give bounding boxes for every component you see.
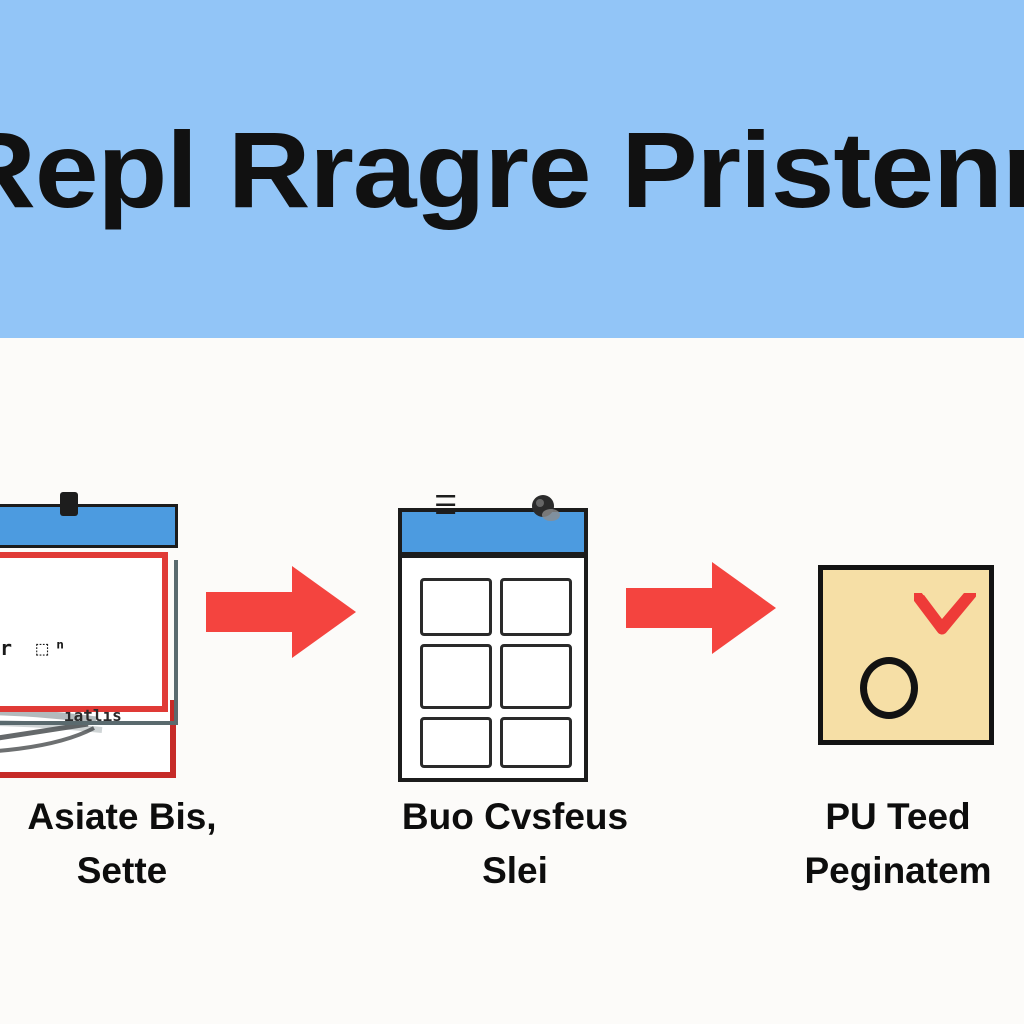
flow-diagram: ◓r ⬚ⁿ ıatlıs ✦ <box>0 338 1024 1024</box>
push-pin-icon <box>528 492 562 526</box>
grid-cell <box>420 644 492 709</box>
arrow-step1-to-step2 <box>206 564 356 660</box>
step-3-icon-tan-card[interactable] <box>818 565 994 745</box>
grid-cell <box>420 578 492 636</box>
step-3-card <box>818 565 994 745</box>
step-2-icon-clipboard-grid[interactable]: ☰ <box>398 508 588 783</box>
step-3-caption: PU Teed Peginatem <box>728 790 1024 898</box>
header-band: Repl Rragre Pristenn <box>0 0 1024 338</box>
grid-cell <box>500 578 572 636</box>
check-mark-icon <box>914 593 976 639</box>
step-1-inner-marks-line-1: ◓r ⬚ⁿ <box>0 636 72 660</box>
grid-cell <box>420 717 492 768</box>
step-2-grid <box>420 578 572 768</box>
grid-cell <box>500 644 572 709</box>
grid-cell <box>500 717 572 768</box>
circle-outline-icon <box>860 657 918 719</box>
diagram-canvas: Repl Rragre Pristenn ◓r ⬚ⁿ ıatlıs ✦ <box>0 0 1024 1024</box>
arrow-step2-to-step3 <box>626 560 776 656</box>
step-1-icon-calendar-notebook[interactable]: ◓r ⬚ⁿ ıatlıs ✦ <box>0 504 188 774</box>
step-1-inner-marks-line-2: ıatlıs <box>64 706 122 725</box>
page-title: Repl Rragre Pristenn <box>0 0 1024 338</box>
binder-clip-icon-right <box>60 492 78 516</box>
step-2-caption: Buo Cvsfeus Slei <box>345 790 685 898</box>
step-1-header-bar <box>0 504 178 548</box>
binder-clip-icon-left: ☰ <box>434 492 456 518</box>
step-1-caption: Asiate Bis, Sette <box>0 790 292 898</box>
step-2-page <box>398 554 588 782</box>
step-1-page: ◓r ⬚ⁿ ıatlıs <box>0 552 168 712</box>
